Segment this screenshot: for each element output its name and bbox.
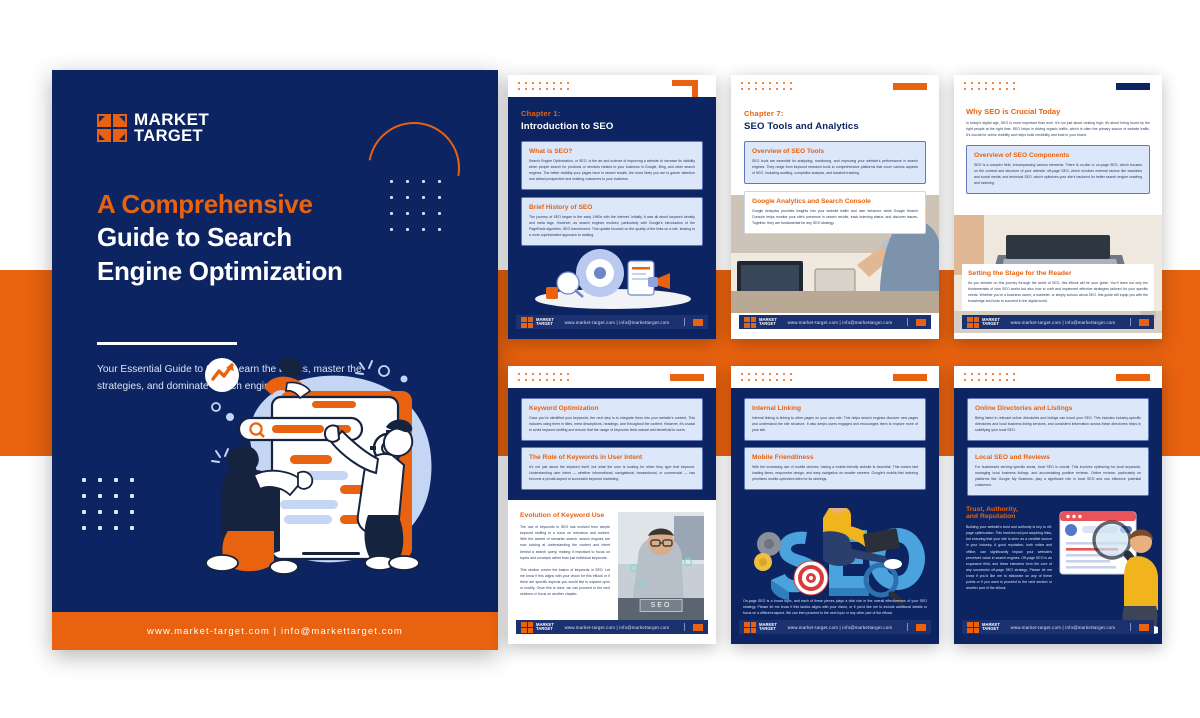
footer-divider bbox=[907, 623, 908, 631]
footer-logo-icon bbox=[744, 622, 756, 633]
card-heading: Local SEO and Reviews bbox=[975, 454, 1141, 461]
footer-divider bbox=[1130, 318, 1131, 326]
page-internal-linking[interactable]: Internal Linking Internal linking is lin… bbox=[731, 366, 939, 644]
card-heading: Google Analytics and Search Console bbox=[752, 198, 918, 205]
section-body-2: This section covers the basics of keywor… bbox=[520, 567, 610, 598]
card-heading: Online Directories and Listings bbox=[975, 405, 1141, 412]
page-body: Chapter 1: Introduction to SEO What is S… bbox=[508, 97, 716, 339]
page-header-band bbox=[954, 75, 1162, 97]
cover-divider bbox=[97, 342, 237, 345]
header-orange-tag bbox=[893, 374, 927, 381]
card-heading: Brief History of SEO bbox=[529, 204, 695, 211]
section-heading-line2: and Reputation bbox=[966, 513, 1052, 520]
content-card: Overview of SEO Tools SEO tools are esse… bbox=[744, 141, 926, 184]
footer-divider bbox=[684, 318, 685, 326]
footer-logo-text: MARKET TARGET bbox=[536, 318, 554, 326]
footer-logo-line2: TARGET bbox=[536, 627, 554, 631]
card-body: SEO is a complex field, encompassing var… bbox=[974, 162, 1142, 186]
footer-square-accent bbox=[693, 624, 703, 631]
header-dot-grid bbox=[741, 373, 797, 385]
chapter-label: Chapter 7: bbox=[744, 109, 926, 118]
ebook-cover[interactable]: MARKET TARGET A Comprehensive Guide to S… bbox=[52, 70, 498, 650]
content-card: Overview of SEO Components SEO is a comp… bbox=[966, 145, 1150, 194]
header-orange-tag bbox=[1116, 374, 1150, 381]
card-heading: Keyword Optimization bbox=[529, 405, 695, 412]
header-dot-grid bbox=[964, 82, 1020, 94]
footer-square-accent bbox=[916, 624, 926, 631]
footer-square-accent bbox=[1139, 624, 1149, 631]
page-footer: MARKET TARGET www.market-target.com | in… bbox=[739, 315, 931, 329]
footer-logo-line2: TARGET bbox=[536, 322, 554, 326]
footer-divider bbox=[1130, 623, 1131, 631]
closing-note: On-page SEO is a broad topic, and each o… bbox=[743, 598, 927, 616]
footer-url: www.market-target.com | info@markettarge… bbox=[554, 625, 680, 630]
page-footer: MARKET TARGET www.market-target.com | in… bbox=[739, 620, 931, 634]
card-body: With the increasing use of mobile device… bbox=[752, 464, 918, 482]
card-body: Being listed in relevant online director… bbox=[975, 415, 1141, 433]
footer-square-accent bbox=[693, 319, 703, 326]
section-body-1: The use of keywords in SEO has evolved f… bbox=[520, 524, 610, 561]
footer-logo-icon bbox=[521, 317, 533, 328]
section-heading: Evolution of Keyword Use bbox=[520, 512, 610, 519]
page-body: Chapter 7: SEO Tools and Analytics Overv… bbox=[731, 97, 939, 339]
footer-url: www.market-target.com | info@markettarge… bbox=[1000, 320, 1126, 325]
footer-logo-line2: TARGET bbox=[759, 322, 777, 326]
content-card: Internal Linking Internal linking is lin… bbox=[744, 398, 926, 441]
footer-logo-text: MARKET TARGET bbox=[536, 623, 554, 631]
footer-logo-icon bbox=[744, 317, 756, 328]
footer-logo-icon bbox=[967, 622, 979, 633]
card-heading: Overview of SEO Components bbox=[974, 152, 1142, 159]
section-heading: Why SEO is Crucial Today bbox=[966, 107, 1150, 116]
chapter-title: SEO Tools and Analytics bbox=[744, 121, 926, 132]
market-target-logo-icon bbox=[97, 114, 127, 142]
content-card: Local SEO and Reviews For businesses ser… bbox=[967, 447, 1149, 496]
cover-footer-url: www.market-target.com | info@markettarge… bbox=[147, 626, 403, 637]
cover-logo: MARKET TARGET bbox=[97, 112, 209, 144]
card-body: The journey of SEO began in the early 19… bbox=[529, 214, 695, 238]
footer-square-accent bbox=[916, 319, 926, 326]
cover-title-line3: Engine Optimization bbox=[97, 255, 437, 288]
cover-dot-grid-bottom-left bbox=[82, 478, 146, 542]
card-body: Once you've identified your keywords, th… bbox=[529, 415, 695, 433]
footer-logo-icon bbox=[521, 622, 533, 633]
header-dot-grid bbox=[964, 373, 1020, 385]
card-body: Google Analytics provides insights into … bbox=[752, 208, 918, 226]
footer-logo-text: MARKET TARGET bbox=[982, 623, 1000, 631]
page-footer: MARKET TARGET www.market-target.com | in… bbox=[516, 315, 708, 329]
cover-logo-text: MARKET TARGET bbox=[134, 112, 209, 144]
section-body: As you embark on this journey through th… bbox=[968, 280, 1148, 305]
footer-url: www.market-target.com | info@markettarge… bbox=[554, 320, 680, 325]
card-heading: What is SEO? bbox=[529, 148, 695, 155]
footer-logo-line2: TARGET bbox=[759, 627, 777, 631]
footer-logo-text: MARKET TARGET bbox=[759, 623, 777, 631]
photo-seo-label: SEO bbox=[640, 599, 683, 612]
cover-title-accent: A Comprehensive bbox=[97, 188, 437, 221]
section-body: In today's digital age, SEO is more impo… bbox=[966, 120, 1150, 138]
card-heading: Overview of SEO Tools bbox=[752, 148, 918, 155]
chapter-title: Introduction to SEO bbox=[521, 121, 703, 132]
footer-logo-text: MARKET TARGET bbox=[759, 318, 777, 326]
card-body: Search Engine Optimization, or SEO, is t… bbox=[529, 158, 695, 182]
footer-logo-icon bbox=[967, 317, 979, 328]
card-heading: The Role of Keywords in User Intent bbox=[529, 454, 695, 461]
page-body: Internal Linking Internal linking is lin… bbox=[731, 388, 939, 644]
cover-illustration bbox=[192, 355, 482, 585]
footer-logo-line2: TARGET bbox=[982, 627, 1000, 631]
magnifier-person-illustration bbox=[1058, 506, 1158, 634]
closing-text: On-page SEO is a broad topic, and each o… bbox=[743, 598, 927, 616]
page-body: Why SEO is Crucial Today In today's digi… bbox=[954, 97, 1162, 339]
page-header-band bbox=[954, 366, 1162, 388]
page-header-band bbox=[508, 75, 716, 97]
chapter-label: Chapter 1: bbox=[521, 109, 703, 118]
footer-divider bbox=[907, 318, 908, 326]
page-body-upper: Keyword Optimization Once you've identif… bbox=[508, 388, 716, 500]
card-body: For businesses serving specific areas, l… bbox=[975, 464, 1141, 488]
content-card: Mobile Friendliness With the increasing … bbox=[744, 447, 926, 490]
page-chapter-1[interactable]: Chapter 1: Introduction to SEO What is S… bbox=[508, 75, 716, 339]
page-footer: MARKET TARGET www.market-target.com | in… bbox=[962, 620, 1154, 634]
header-orange-tag bbox=[893, 83, 927, 90]
page-body: Online Directories and Listings Being li… bbox=[954, 388, 1162, 644]
page-header-band bbox=[731, 366, 939, 388]
section-body: Building your website's trust and author… bbox=[966, 524, 1052, 591]
page-footer: MARKET TARGET www.market-target.com | in… bbox=[516, 620, 708, 634]
cover-title-block: A Comprehensive Guide to Search Engine O… bbox=[97, 188, 437, 288]
header-orange-tag bbox=[670, 374, 704, 381]
man-at-computer-photo: SEO bbox=[618, 512, 704, 620]
content-card: Online Directories and Listings Being li… bbox=[967, 398, 1149, 441]
footer-logo-text: MARKET TARGET bbox=[982, 318, 1000, 326]
header-dot-grid bbox=[741, 82, 797, 94]
page-why-seo-crucial[interactable]: Why SEO is Crucial Today In today's digi… bbox=[954, 75, 1162, 339]
card-body: It's not just about the keyword itself, … bbox=[529, 464, 695, 482]
footer-logo-line2: TARGET bbox=[982, 322, 1000, 326]
header-navy-tag bbox=[1116, 83, 1150, 90]
ebook-mockup-stage: MARKET TARGET A Comprehensive Guide to S… bbox=[0, 0, 1200, 718]
header-dot-grid bbox=[518, 82, 574, 94]
page-chapter-7[interactable]: Chapter 7: SEO Tools and Analytics Overv… bbox=[731, 75, 939, 339]
page-footer: MARKET TARGET www.market-target.com | in… bbox=[962, 315, 1154, 329]
content-card: The Role of Keywords in User Intent It's… bbox=[521, 447, 703, 490]
footer-divider bbox=[684, 623, 685, 631]
page-header-band bbox=[508, 366, 716, 388]
logo-name-line2: TARGET bbox=[134, 129, 209, 144]
card-body: SEO tools are essential for analyzing, m… bbox=[752, 158, 918, 176]
card-heading: Internal Linking bbox=[752, 405, 918, 412]
card-body: Internal linking is linking to other pag… bbox=[752, 415, 918, 433]
page1-illustration bbox=[528, 239, 698, 309]
page-header-band bbox=[731, 75, 939, 97]
section-heading: Setting the Stage for the Reader bbox=[968, 270, 1148, 277]
content-card: What is SEO? Search Engine Optimization,… bbox=[521, 141, 703, 190]
cover-footer: www.market-target.com | info@markettarge… bbox=[52, 612, 498, 650]
footer-url: www.market-target.com | info@markettarge… bbox=[1000, 625, 1126, 630]
cover-title-line2: Guide to Search bbox=[97, 221, 437, 254]
header-dot-grid bbox=[518, 373, 574, 385]
section-heading-line1: Trust, Authority, bbox=[966, 506, 1052, 513]
footer-square-accent bbox=[1139, 319, 1149, 326]
page-keyword-optimization[interactable]: Keyword Optimization Once you've identif… bbox=[508, 366, 716, 644]
seo-3d-illustration bbox=[745, 508, 925, 608]
card-heading: Mobile Friendliness bbox=[752, 454, 918, 461]
content-card: Google Analytics and Search Console Goog… bbox=[744, 191, 926, 234]
footer-url: www.market-target.com | info@markettarge… bbox=[777, 625, 903, 630]
logo-name-line1: MARKET bbox=[134, 112, 209, 128]
footer-url: www.market-target.com | info@markettarge… bbox=[777, 320, 903, 325]
content-card: Keyword Optimization Once you've identif… bbox=[521, 398, 703, 441]
page-local-seo[interactable]: Online Directories and Listings Being li… bbox=[954, 366, 1162, 644]
stage-section: Setting the Stage for the Reader As you … bbox=[962, 264, 1154, 312]
